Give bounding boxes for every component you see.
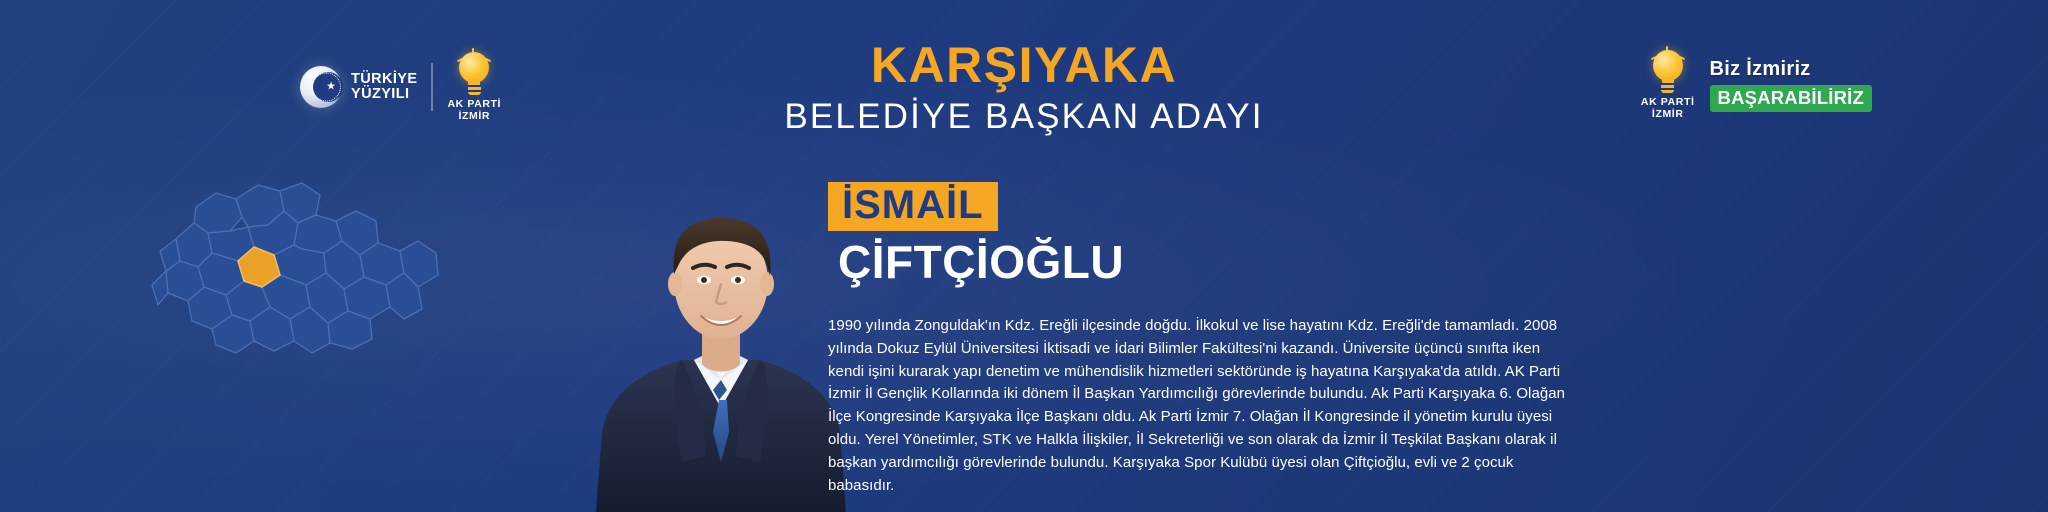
left-logo-group: ★ TÜRKİYE YÜZYILI AK PARTİ İZMİR xyxy=(300,52,501,122)
izmir-district-map xyxy=(150,155,460,385)
map-district xyxy=(194,193,242,233)
slogan-line2: BAŞARABİLİRİZ xyxy=(1710,85,1872,112)
candidate-first-name: İSMAİL xyxy=(828,182,998,231)
lightbulb-icon xyxy=(1651,50,1685,94)
ak-parti-line1-right: AK PARTİ xyxy=(1641,97,1695,109)
candidate-biography: 1990 yılında Zonguldak'ın Kdz. Ereğli il… xyxy=(828,315,1568,497)
map-svg xyxy=(150,155,460,385)
logo-divider xyxy=(431,63,433,111)
ak-parti-label-left: AK PARTİ İZMİR xyxy=(447,99,501,122)
turkiye-yuzyili-label: TÜRKİYE YÜZYILI xyxy=(351,72,417,102)
turkiye-yuzyili-line2: YÜZYILI xyxy=(351,87,417,102)
right-logo-group: AK PARTİ İZMİR Biz İzmiriz BAŞARABİLİRİZ xyxy=(1641,50,1872,120)
ak-parti-line2-left: İZMİR xyxy=(447,111,501,123)
turkiye-yuzyili-logo: ★ TÜRKİYE YÜZYILI xyxy=(300,66,417,108)
slogan-line1: Biz İzmiriz xyxy=(1710,58,1811,81)
crescent-star-icon: ★ xyxy=(300,66,342,108)
pupil-left xyxy=(701,277,707,283)
ak-parti-line1-left: AK PARTİ xyxy=(447,99,501,111)
ear-right xyxy=(760,272,774,296)
map-district xyxy=(152,271,168,305)
ak-parti-izmir-logo-left: AK PARTİ İZMİR xyxy=(447,52,501,122)
candidate-last-name: ÇİFTÇİOĞLU xyxy=(838,239,1124,285)
slogan-block: Biz İzmiriz BAŞARABİLİRİZ xyxy=(1710,58,1872,112)
candidate-portrait-svg xyxy=(586,132,856,512)
candidate-photo xyxy=(586,132,856,512)
ear-left xyxy=(668,272,682,296)
pupil-right xyxy=(735,277,741,283)
ak-parti-line2-right: İZMİR xyxy=(1641,109,1695,121)
ak-parti-izmir-logo-right: AK PARTİ İZMİR xyxy=(1641,50,1695,120)
campaign-banner: ★ TÜRKİYE YÜZYILI AK PARTİ İZMİR xyxy=(0,0,2048,512)
turkiye-yuzyili-line1: TÜRKİYE xyxy=(351,72,417,87)
lightbulb-icon xyxy=(457,52,491,96)
ak-parti-label-right: AK PARTİ İZMİR xyxy=(1641,97,1695,120)
candidate-name-block: İSMAİL ÇİFTÇİOĞLU xyxy=(828,182,1124,285)
